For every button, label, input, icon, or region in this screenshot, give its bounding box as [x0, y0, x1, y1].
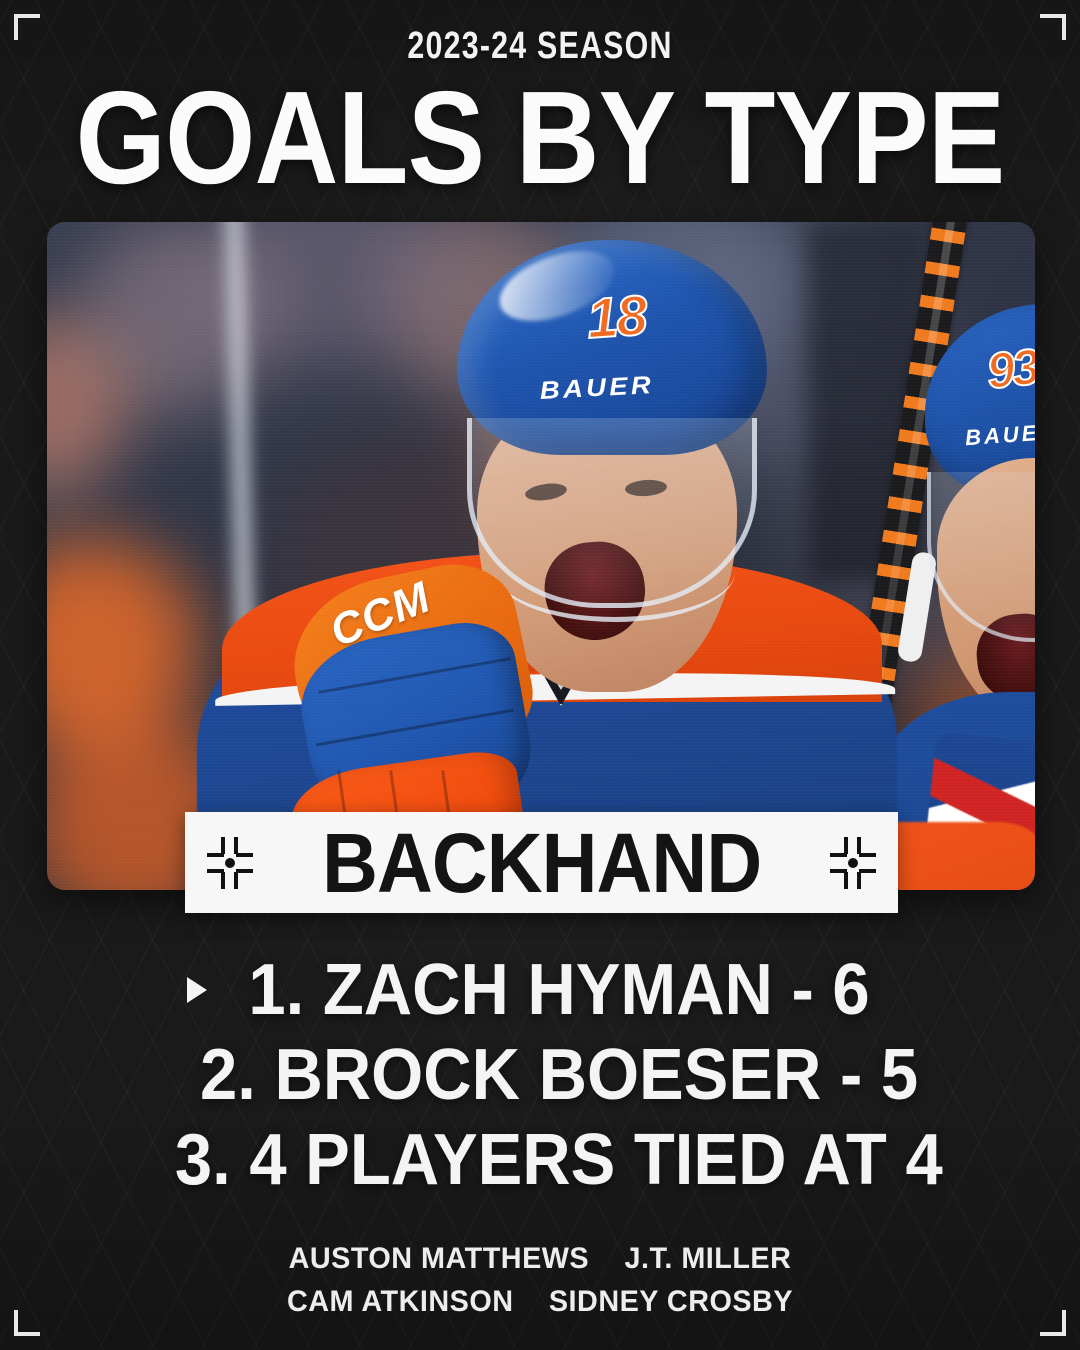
reg-tick: [207, 869, 224, 873]
tied-player-name: SIDNEY CROSBY: [549, 1285, 793, 1318]
reg-tick: [859, 869, 876, 873]
right-player-helmet-number: 93: [984, 338, 1035, 401]
reg-tick: [234, 837, 238, 854]
leaderboard-list: 1. ZACH HYMAN - 6 2. BROCK BOESER - 5 3.…: [0, 948, 1080, 1203]
reg-tick: [859, 853, 876, 857]
registration-mark-left-icon: [207, 837, 253, 889]
reg-tick: [830, 853, 847, 857]
tied-player-name: AUSTON MATTHEWS: [289, 1242, 590, 1275]
header: 2023-24 SEASON GOALS BY TYPE: [0, 0, 1080, 200]
registration-mark-right-icon: [830, 837, 876, 889]
reg-tick: [236, 869, 253, 873]
tied-players-line-1: AUSTON MATTHEWS J.T. MILLER: [22, 1238, 1059, 1281]
tied-player-name: CAM ATKINSON: [287, 1285, 514, 1318]
leaderboard-row-3-text: 3. 4 PLAYERS TIED AT 4: [175, 1118, 943, 1203]
reg-tick: [844, 872, 848, 889]
tied-players-line-2: CAM ATKINSON SIDNEY CROSBY: [22, 1281, 1059, 1324]
page-title: GOALS BY TYPE: [65, 75, 1015, 200]
right-player-helmet-brand: BAUER: [964, 419, 1035, 451]
reg-tick: [857, 837, 861, 854]
leaderboard-row-3: 3. 4 PLAYERS TIED AT 4: [0, 1118, 1080, 1203]
season-label: 2023-24 SEASON: [108, 27, 972, 65]
goal-type-band: BACKHAND: [185, 812, 898, 913]
reg-tick: [830, 869, 847, 873]
pointer-triangle-icon: [187, 977, 207, 1003]
reg-tick: [236, 853, 253, 857]
goal-type-title: BACKHAND: [322, 821, 761, 905]
player-photo: 93 BAUER 18 BAUER CCM: [47, 222, 1035, 890]
reg-tick: [221, 872, 225, 889]
tied-players-footer: AUSTON MATTHEWS J.T. MILLER CAM ATKINSON…: [0, 1238, 1080, 1323]
leaderboard-row-2: 2. BROCK BOESER - 5: [0, 1033, 1080, 1118]
tied-player-name: J.T. MILLER: [624, 1242, 791, 1275]
left-player-helmet-number: 18: [585, 282, 648, 351]
leaderboard-row-1: 1. ZACH HYMAN - 6: [0, 948, 1080, 1033]
reg-tick: [234, 872, 238, 889]
reg-center-dot: [848, 858, 858, 868]
reg-tick: [221, 837, 225, 854]
reg-tick: [844, 837, 848, 854]
reg-tick: [207, 853, 224, 857]
reg-center-dot: [225, 858, 235, 868]
reg-tick: [857, 872, 861, 889]
left-player-visor-lower-edge: [495, 522, 735, 622]
leaderboard-row-2-text: 2. BROCK BOESER - 5: [200, 1033, 918, 1118]
left-player-helmet-brand: BAUER: [539, 371, 655, 406]
leaderboard-row-1-text: 1. ZACH HYMAN - 6: [248, 948, 869, 1033]
